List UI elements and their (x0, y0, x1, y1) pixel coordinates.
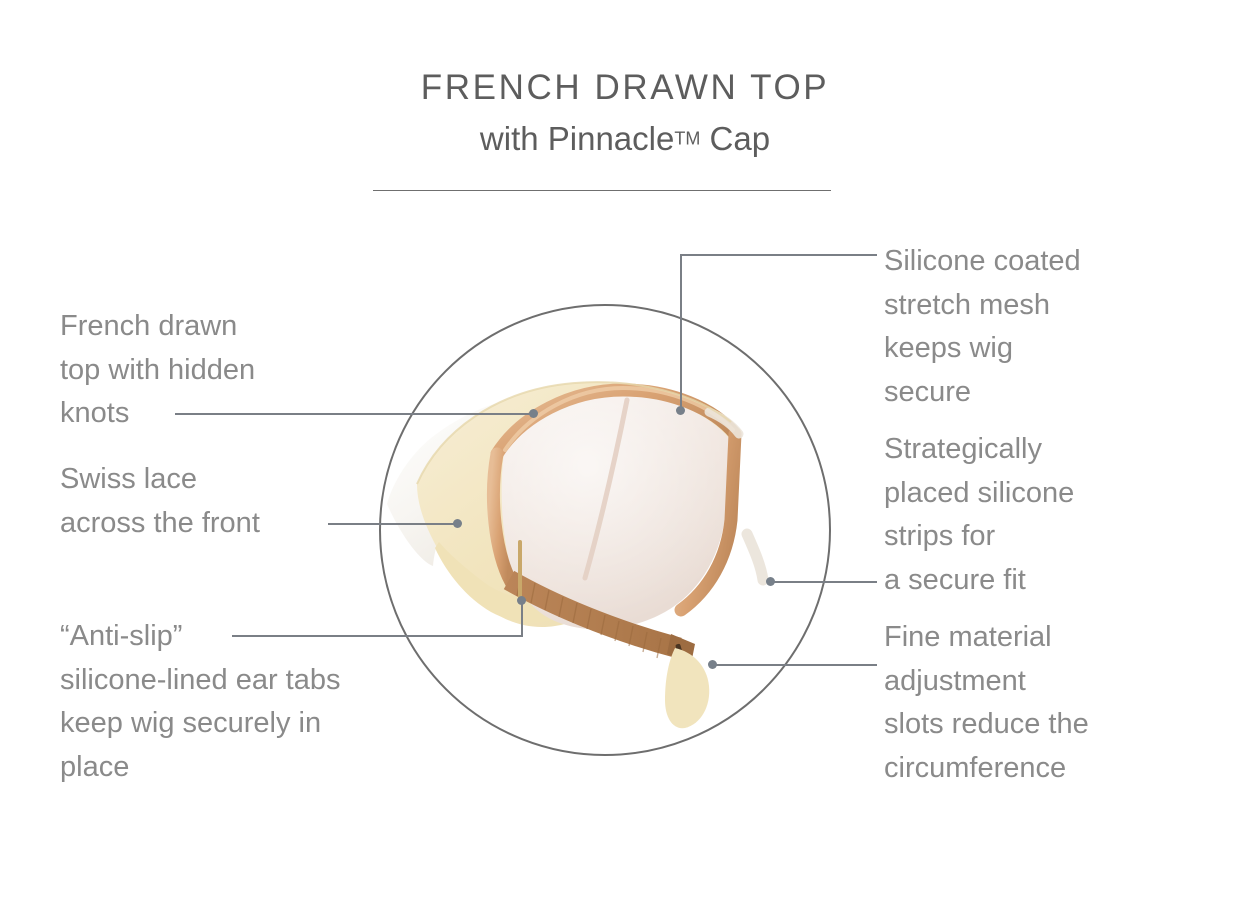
annotation-adjustment-slots: Fine material adjustment slots reduce th… (884, 616, 1184, 790)
annotation-silicone-strips: Strategically placed silicone strips for… (884, 428, 1174, 602)
leader-dot-anti-slip (517, 596, 526, 605)
leader-line-mesh-horizontal (680, 254, 877, 256)
annotation-silicone-coated-mesh: Silicone coated stretch mesh keeps wig s… (884, 240, 1174, 414)
subtitle-suffix: Cap (700, 120, 770, 157)
annotation-swiss-lace: Swiss lace across the front (60, 458, 390, 545)
leader-dot-silicone-strips (766, 577, 775, 586)
annotation-anti-slip-ear-tabs: “Anti-slip” silicone-lined ear tabs keep… (60, 615, 450, 789)
subtitle-text: with Pinnacle (480, 120, 674, 157)
page-subtitle: with PinnacleTM Cap (0, 119, 1250, 159)
page-title: FRENCH DRAWN TOP (0, 68, 1250, 109)
trademark-symbol: TM (674, 128, 700, 148)
leader-dot-french-drawn-top (529, 409, 538, 418)
leader-dot-mesh (676, 406, 685, 415)
leader-dot-swiss-lace (453, 519, 462, 528)
leader-line-silicone-strips (770, 581, 877, 583)
leader-dot-adjustment-slots (708, 660, 717, 669)
leader-line-mesh-vertical (680, 254, 682, 411)
title-divider-rule (373, 190, 831, 191)
leader-line-adjustment-slots (712, 664, 877, 666)
title-block: FRENCH DRAWN TOP with PinnacleTM Cap (0, 68, 1250, 159)
annotation-french-drawn-top: French drawn top with hidden knots (60, 305, 390, 436)
infographic-canvas: FRENCH DRAWN TOP with PinnacleTM Cap (0, 0, 1250, 900)
leader-line-anti-slip-vertical (521, 600, 523, 636)
